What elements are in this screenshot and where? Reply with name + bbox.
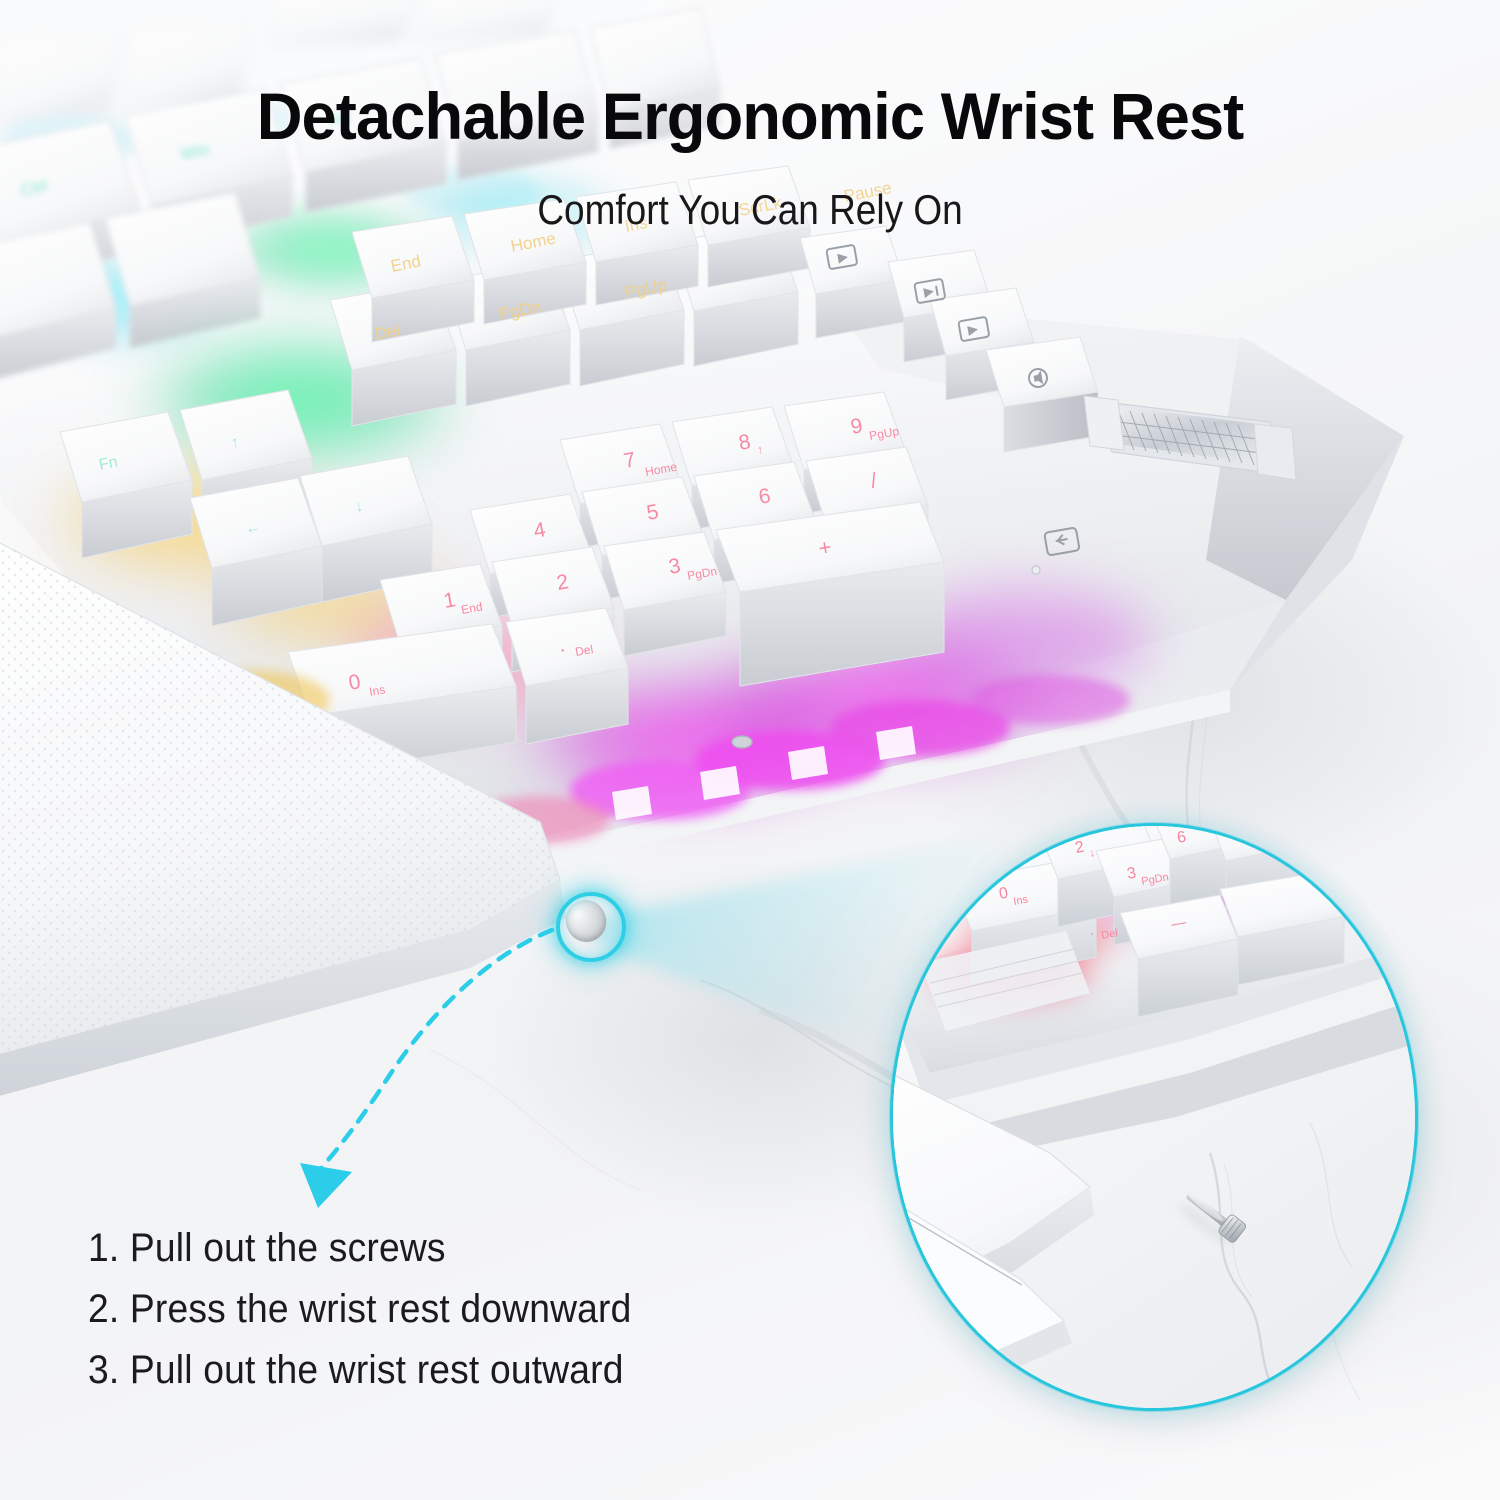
page-title: Detachable Ergonomic Wrist Rest (30, 78, 1470, 154)
list-item: 1. Pull out the screws (88, 1218, 631, 1279)
arrowhead-icon (300, 1163, 352, 1208)
instruction-list: 1. Pull out the screws 2. Press the wris… (88, 1218, 672, 1400)
list-item: 3. Pull out the wrist rest outward (88, 1340, 631, 1401)
page-subtitle: Comfort You Can Rely On (90, 186, 1410, 234)
product-image-canvas: Ctrl Win Alt (0, 0, 1500, 1500)
list-item: 2. Press the wrist rest downward (88, 1279, 631, 1340)
